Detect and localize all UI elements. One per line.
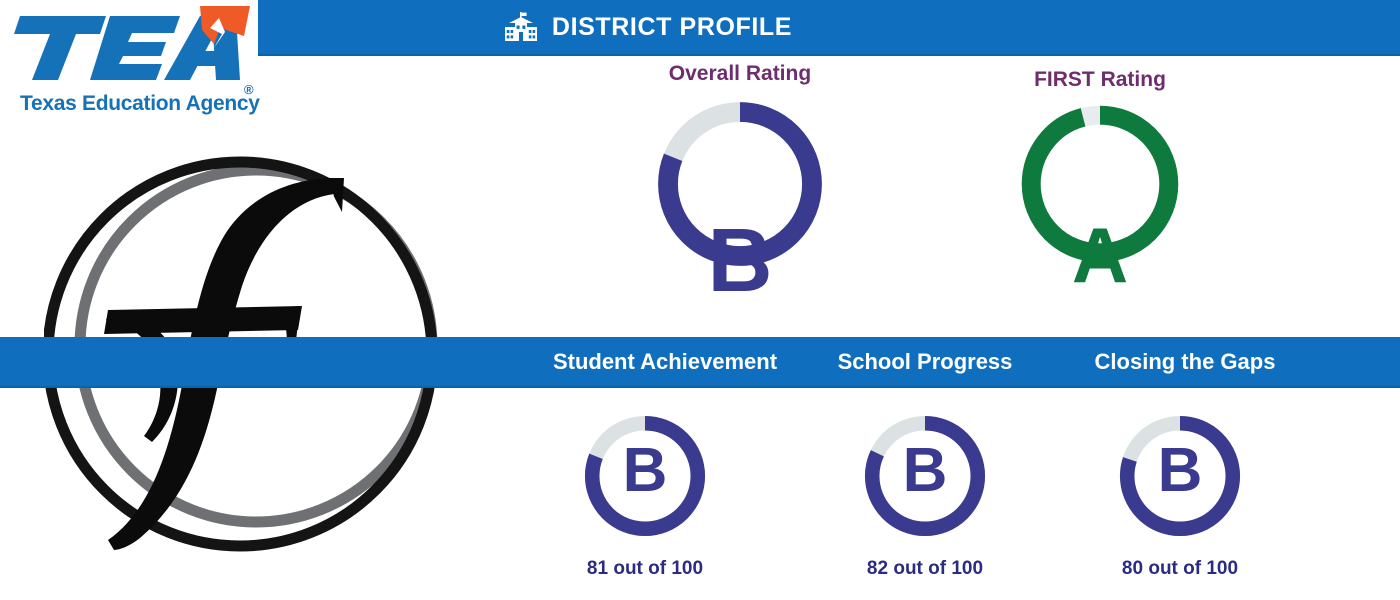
overall-rating-grade: B bbox=[620, 216, 860, 306]
closing-the-gaps-gauge[interactable]: B 80 out of 100 bbox=[1085, 410, 1275, 590]
student-achievement-score: 81 out of 100 bbox=[550, 558, 740, 580]
district-profile-screen: ® Texas Education Agency bbox=[0, 0, 1400, 600]
page-title: DISTRICT PROFILE bbox=[552, 13, 792, 42]
tea-agency-name: Texas Education Agency bbox=[20, 92, 258, 116]
tea-logo: ® Texas Education Agency bbox=[14, 4, 258, 124]
school-progress-grade: B bbox=[830, 440, 1020, 502]
domain-labels-band: Student Achievement School Progress Clos… bbox=[0, 337, 1400, 388]
overall-rating-title: Overall Rating bbox=[620, 62, 860, 86]
first-rating-title: FIRST Rating bbox=[980, 68, 1220, 92]
student-achievement-grade: B bbox=[550, 440, 740, 502]
header-content: DISTRICT PROFILE bbox=[258, 0, 1038, 54]
school-progress-gauge[interactable]: B 82 out of 100 bbox=[830, 410, 1020, 590]
school-progress-score: 82 out of 100 bbox=[830, 558, 1020, 580]
first-rating-grade: A bbox=[980, 216, 1220, 294]
closing-the-gaps-grade: B bbox=[1085, 440, 1275, 502]
tea-logo-mark bbox=[14, 4, 258, 88]
domain-label-school-progress: School Progress bbox=[800, 349, 1050, 375]
domain-label-closing-the-gaps: Closing the Gaps bbox=[1050, 349, 1320, 375]
domain-label-student-achievement: Student Achievement bbox=[530, 349, 800, 375]
student-achievement-gauge[interactable]: B 81 out of 100 bbox=[550, 410, 740, 590]
district-profile-header-band: DISTRICT PROFILE bbox=[258, 0, 1400, 56]
overall-rating-gauge[interactable]: Overall Rating B 81 out of 100 bbox=[620, 62, 860, 322]
domain-labels: Student Achievement School Progress Clos… bbox=[530, 337, 1330, 386]
school-building-icon bbox=[504, 12, 538, 42]
first-rating-gauge[interactable]: FIRST Rating A 96 out of 100 bbox=[980, 68, 1220, 328]
closing-the-gaps-score: 80 out of 100 bbox=[1085, 558, 1275, 580]
